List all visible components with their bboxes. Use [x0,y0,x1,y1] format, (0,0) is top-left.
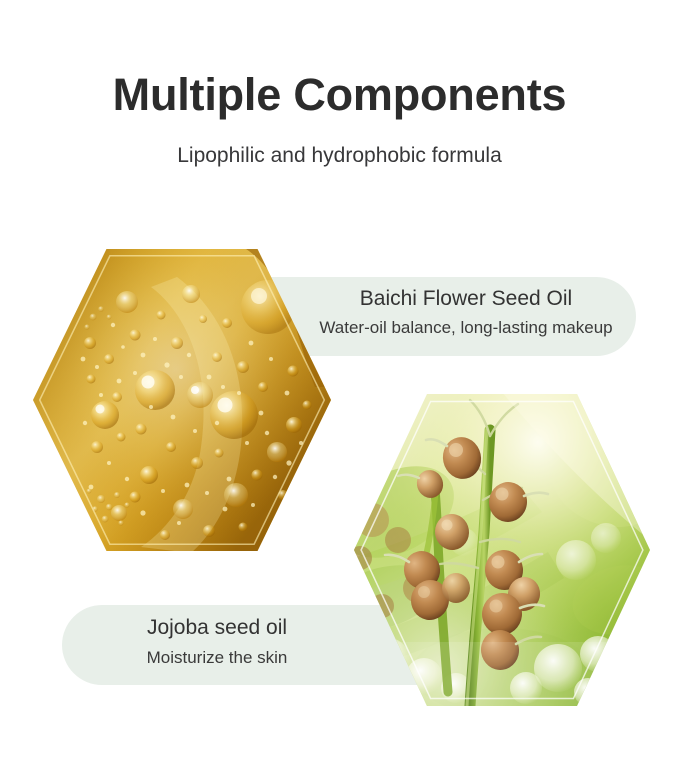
ingredient-card-baichi-subtitle: Water-oil balance, long-lasting makeup [296,317,636,338]
page-subtitle: Lipophilic and hydrophobic formula [0,142,679,170]
ingredient-card-jojoba-subtitle: Moisturize the skin [62,647,372,668]
oil-hexagon-image [31,247,333,553]
product-infographic: Multiple Components Lipophilic and hydro… [0,0,679,766]
page-title: Multiple Components [0,68,679,122]
plant-hexagon-image [352,392,652,708]
ingredient-card-jojoba-title: Jojoba seed oil [62,616,372,640]
ingredient-card-baichi-title: Baichi Flower Seed Oil [296,287,636,311]
